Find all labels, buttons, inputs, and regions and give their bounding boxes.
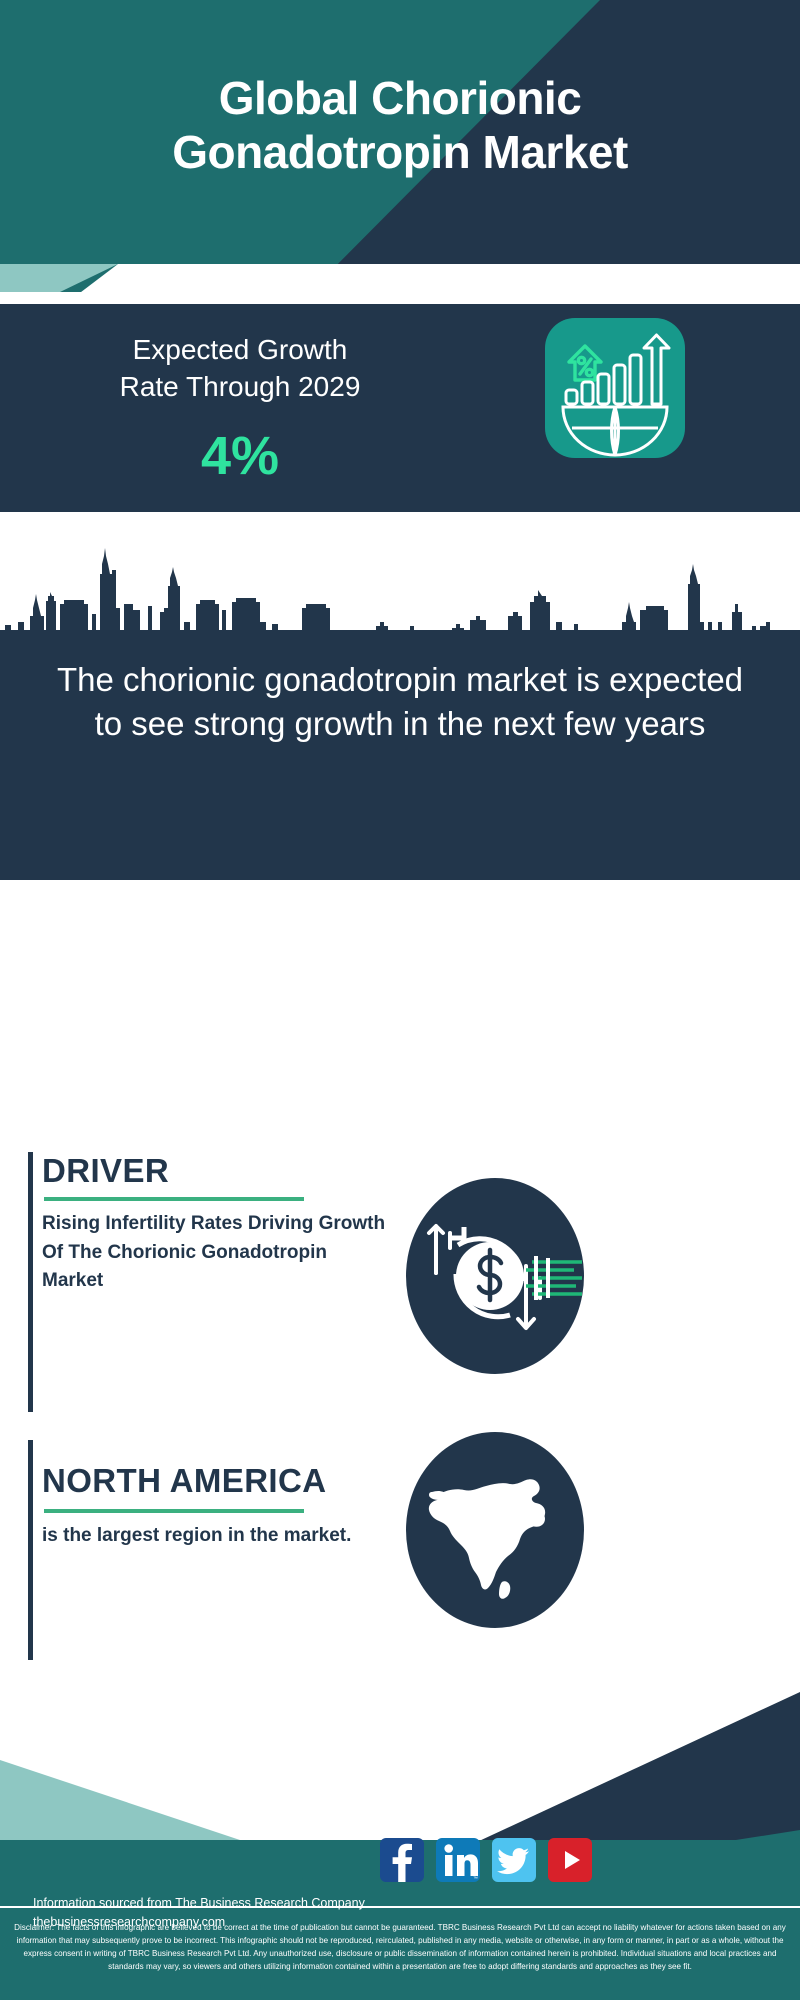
youtube-icon[interactable] bbox=[548, 1838, 592, 1882]
linkedin-icon[interactable]: ™ bbox=[436, 1838, 480, 1882]
growth-rate-value: 4% bbox=[30, 429, 450, 483]
region-accent-bar bbox=[28, 1440, 33, 1670]
growth-globe-chart-icon bbox=[545, 318, 685, 458]
page-title-line2: Gonadotropin Market bbox=[0, 126, 800, 180]
growth-globe-chart-svg bbox=[545, 318, 685, 458]
page-title: Global Chorionic Gonadotropin Market bbox=[0, 72, 800, 180]
twitter-icon[interactable] bbox=[492, 1838, 536, 1882]
driver-underline bbox=[44, 1197, 304, 1201]
region-body: is the largest region in the market. bbox=[42, 1522, 382, 1551]
dollar-circulation-icon bbox=[406, 1178, 584, 1374]
header-banner: Global Chorionic Gonadotropin Market bbox=[0, 0, 800, 292]
region-title: NORTH AMERICA bbox=[42, 1462, 326, 1500]
facebook-icon[interactable] bbox=[380, 1838, 424, 1882]
market-statement-text: The chorionic gonadotropin market is exp… bbox=[50, 658, 750, 746]
driver-accent-bar bbox=[28, 1152, 33, 1412]
twitter-bird-glyph bbox=[492, 1838, 536, 1882]
facebook-glyph bbox=[380, 1838, 424, 1882]
header-white-band bbox=[0, 264, 800, 308]
footer-disclaimer-text: Disclaimer: The facts of this infographi… bbox=[14, 1921, 786, 1973]
youtube-play-glyph bbox=[548, 1838, 592, 1882]
growth-rate-label: Expected Growth Rate Through 2029 bbox=[30, 332, 450, 406]
market-statement-section: The chorionic gonadotropin market is exp… bbox=[0, 630, 800, 880]
footer-source-line1: Information sourced from The Business Re… bbox=[33, 1896, 365, 1910]
region-underline bbox=[44, 1509, 304, 1513]
growth-rate-label-line2: Rate Through 2029 bbox=[30, 369, 450, 406]
svg-text:™: ™ bbox=[473, 1876, 478, 1882]
growth-rate-label-line1: Expected Growth bbox=[30, 332, 450, 369]
north-america-map-icon bbox=[406, 1432, 584, 1628]
driver-body: Rising Infertility Rates Driving Growth … bbox=[42, 1210, 392, 1296]
page-title-line1: Global Chorionic bbox=[0, 72, 800, 126]
linkedin-glyph: ™ bbox=[436, 1838, 480, 1882]
driver-title: DRIVER bbox=[42, 1152, 169, 1190]
north-america-map-svg bbox=[406, 1432, 584, 1628]
dollar-circulation-svg bbox=[406, 1178, 584, 1374]
